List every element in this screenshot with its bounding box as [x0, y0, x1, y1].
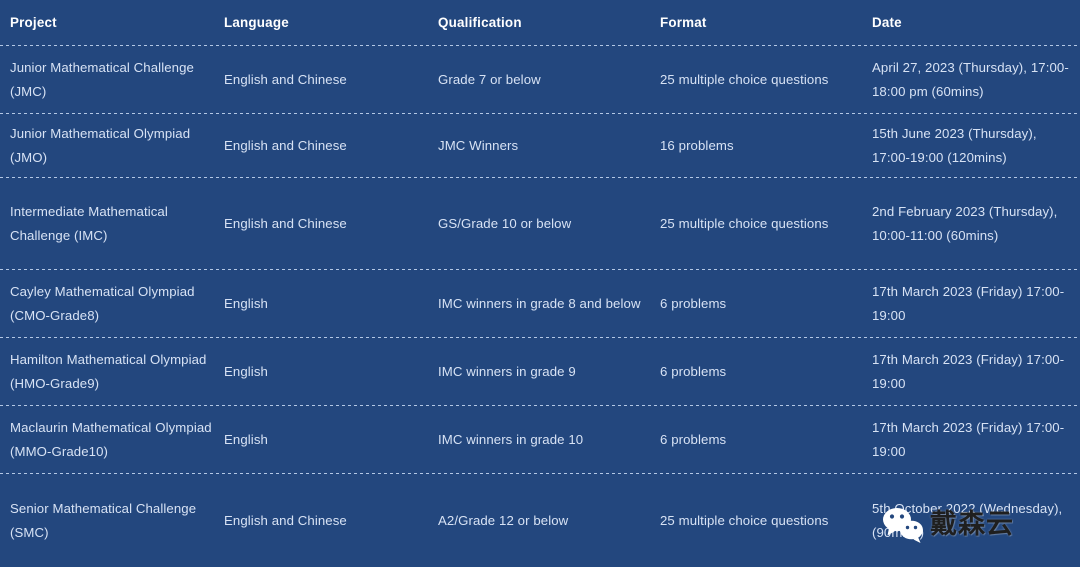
column-header-date: Date [872, 11, 1072, 35]
column-header-qualification: Qualification [438, 11, 653, 35]
cell-format: 6 problems [660, 428, 865, 452]
cell-qualification: IMC winners in grade 10 [438, 428, 653, 452]
cell-project: Maclaurin Mathematical Olympiad (MMO-Gra… [10, 416, 215, 464]
column-header-format: Format [660, 11, 865, 35]
cell-qualification: GS/Grade 10 or below [438, 212, 653, 236]
cell-language: English and Chinese [224, 212, 429, 236]
cell-qualification: JMC Winners [438, 134, 653, 158]
schedule-table: Project Language Qualification Format Da… [0, 0, 1080, 567]
cell-project: Hamilton Mathematical Olympiad (HMO-Grad… [10, 348, 215, 396]
cell-language: English [224, 292, 429, 316]
table-row: Junior Mathematical Olympiad (JMO) Engli… [0, 114, 1080, 178]
table-row: Hamilton Mathematical Olympiad (HMO-Grad… [0, 338, 1080, 406]
cell-format: 16 problems [660, 134, 865, 158]
cell-date: 17th March 2023 (Friday) 17:00-19:00 [872, 348, 1072, 396]
cell-qualification: IMC winners in grade 9 [438, 360, 653, 384]
cell-date: 15th June 2023 (Thursday), 17:00-19:00 (… [872, 122, 1072, 170]
cell-language: English and Chinese [224, 134, 429, 158]
cell-qualification: Grade 7 or below [438, 68, 653, 92]
cell-format: 25 multiple choice questions [660, 68, 865, 92]
cell-format: 25 multiple choice questions [660, 212, 865, 236]
cell-format: 6 problems [660, 360, 865, 384]
cell-project: Junior Mathematical Olympiad (JMO) [10, 122, 215, 170]
cell-project: Junior Mathematical Challenge (JMC) [10, 56, 215, 104]
cell-language: English and Chinese [224, 509, 429, 533]
table-row: Senior Mathematical Challenge (SMC) Engl… [0, 474, 1080, 567]
cell-date: 17th March 2023 (Friday) 17:00-19:00 [872, 416, 1072, 464]
cell-project: Intermediate Mathematical Challenge (IMC… [10, 200, 215, 248]
cell-format: 6 problems [660, 292, 865, 316]
cell-language: English [224, 428, 429, 452]
cell-language: English [224, 360, 429, 384]
cell-date: April 27, 2023 (Thursday), 17:00-18:00 p… [872, 56, 1072, 104]
table-row: Maclaurin Mathematical Olympiad (MMO-Gra… [0, 406, 1080, 474]
cell-project: Senior Mathematical Challenge (SMC) [10, 497, 215, 545]
cell-qualification: IMC winners in grade 8 and below [438, 292, 653, 316]
cell-language: English and Chinese [224, 68, 429, 92]
table-row: Junior Mathematical Challenge (JMC) Engl… [0, 46, 1080, 114]
table-row: Cayley Mathematical Olympiad (CMO-Grade8… [0, 270, 1080, 338]
table-row: Intermediate Mathematical Challenge (IMC… [0, 178, 1080, 270]
table-header-row: Project Language Qualification Format Da… [0, 0, 1080, 46]
column-header-language: Language [224, 11, 429, 35]
cell-date: 5th October 2022 (Wednesday), (90mins) [872, 497, 1072, 545]
cell-date: 17th March 2023 (Friday) 17:00-19:00 [872, 280, 1072, 328]
cell-date: 2nd February 2023 (Thursday), 10:00-11:0… [872, 200, 1072, 248]
column-header-project: Project [10, 11, 215, 35]
cell-project: Cayley Mathematical Olympiad (CMO-Grade8… [10, 280, 215, 328]
cell-format: 25 multiple choice questions [660, 509, 865, 533]
cell-qualification: A2/Grade 12 or below [438, 509, 653, 533]
